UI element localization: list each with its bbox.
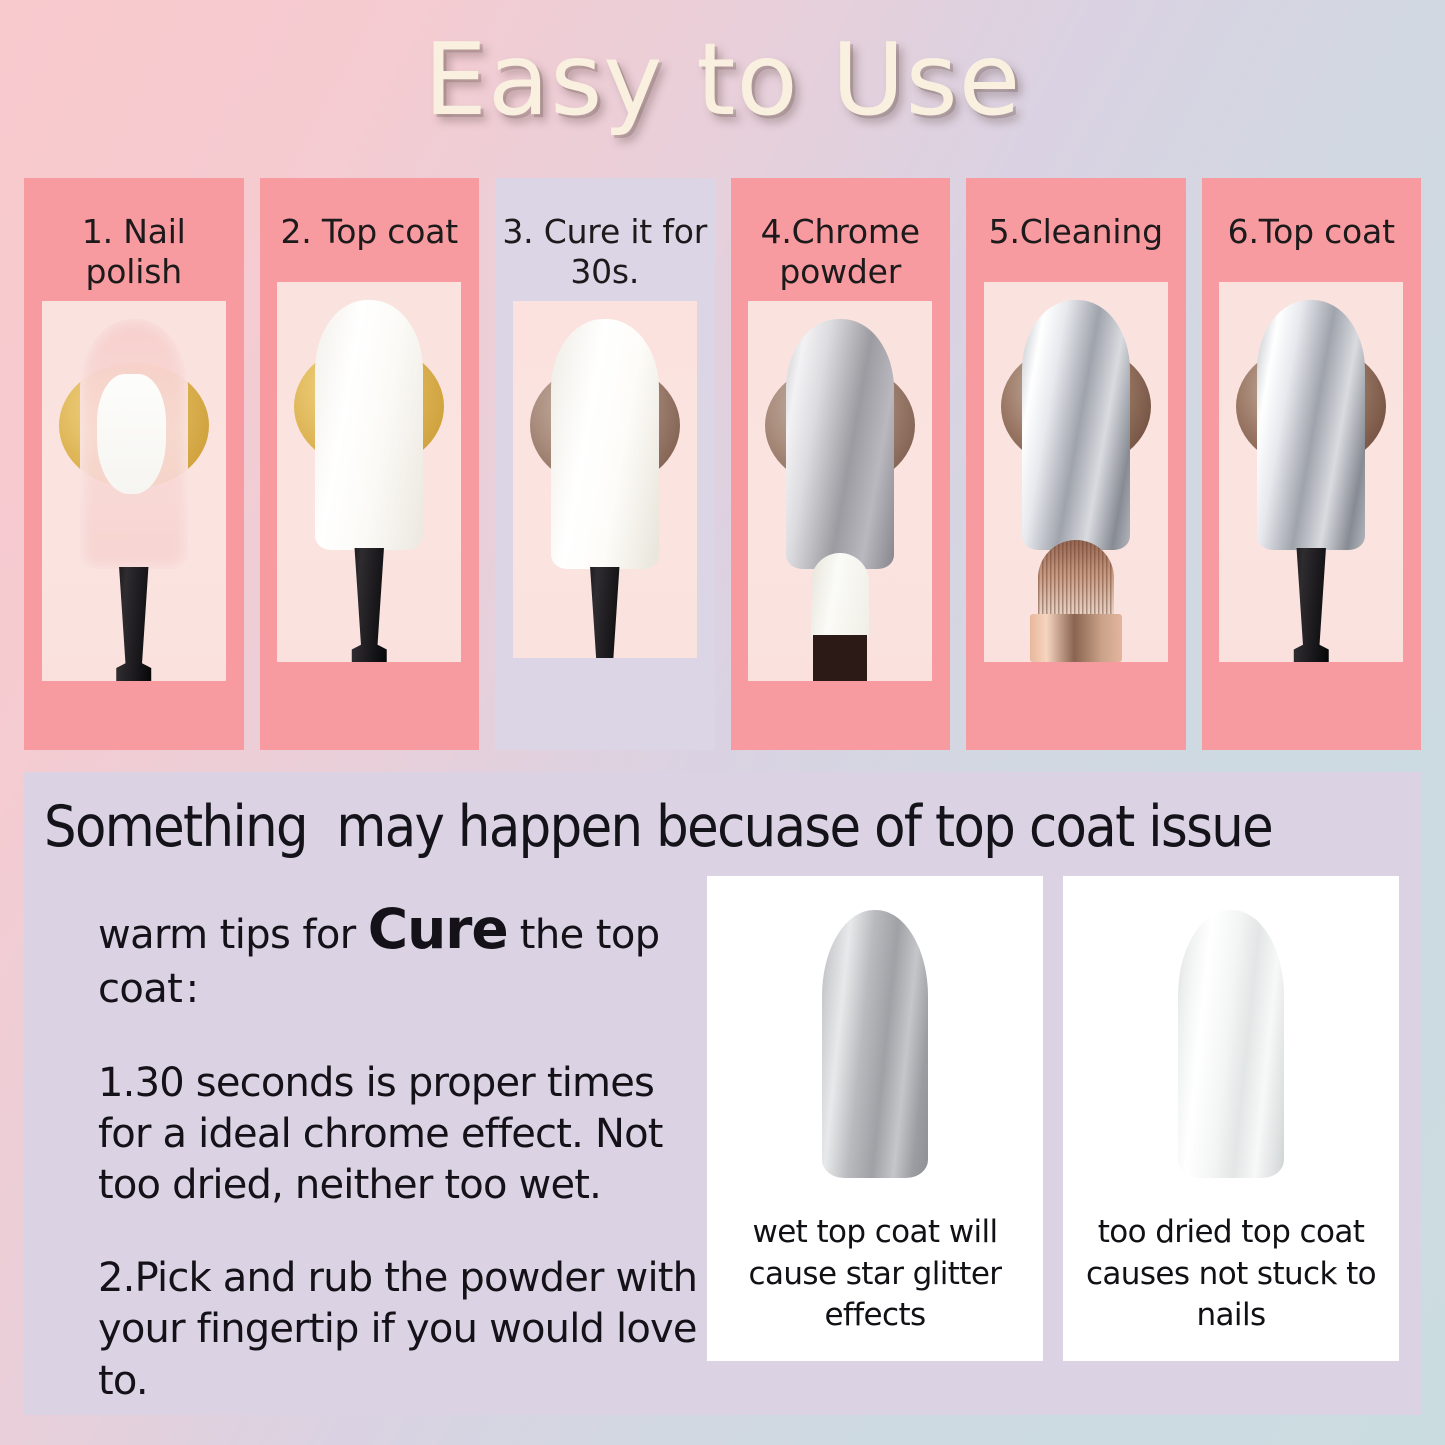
- step-card-2[interactable]: 2. Top coat: [260, 178, 480, 750]
- polish-brush-icon: [111, 567, 157, 681]
- step-card-4[interactable]: 4.Chrome powder: [731, 178, 951, 750]
- nail-chrome-final: [1257, 300, 1365, 550]
- step-title-5: 5.Cleaning: [966, 178, 1186, 274]
- nail-pink-polish: [80, 319, 188, 569]
- comparison-photo-wet: [707, 876, 1043, 1206]
- nail-cured-topcoat: [551, 319, 659, 569]
- step-card-6[interactable]: 6.Top coat: [1202, 178, 1422, 750]
- troubleshooting-panel: Something may happen becuase of top coat…: [24, 772, 1421, 1415]
- nail-chrome-powder: [786, 319, 894, 569]
- step-title-1: 1. Nail polish: [24, 178, 244, 293]
- sponge-tip: [811, 553, 869, 641]
- step-card-3[interactable]: 3. Cure it for 30s.: [495, 178, 715, 750]
- comparison-card-wet[interactable]: wet top coat will cause star glitter eff…: [707, 876, 1043, 1361]
- warm-tips-lead: warm tips for Cure the top coat :: [98, 894, 718, 1016]
- lead-emphasis-cure: Cure: [368, 897, 508, 961]
- nail-pearl-unstuck: [1178, 910, 1284, 1178]
- panel-heading: Something may happen becuase of top coat…: [44, 798, 1404, 858]
- comparison-photo-dried: [1063, 876, 1399, 1206]
- step-card-1[interactable]: 1. Nail polish: [24, 178, 244, 750]
- comparison-caption-wet: wet top coat will cause star glitter eff…: [707, 1212, 1043, 1337]
- polish-brush-icon: [582, 567, 628, 681]
- warm-tips-column: warm tips for Cure the top coat : 1.30 s…: [98, 894, 718, 1407]
- tip-paragraph-2: 2.Pick and rub the powder with your fing…: [98, 1253, 718, 1407]
- step-photo-2: [277, 282, 461, 662]
- comparison-cards: wet top coat will cause star glitter eff…: [707, 876, 1399, 1361]
- steps-row: 1. Nail polish 2. Top coat 3. Cure it fo…: [24, 178, 1421, 750]
- step-title-2: 2. Top coat: [260, 178, 480, 274]
- nail-white-topcoat: [315, 300, 423, 550]
- comparison-card-dried[interactable]: too dried top coat causes not stuck to n…: [1063, 876, 1399, 1361]
- sponge-applicator-icon: [809, 553, 871, 681]
- step-title-4: 4.Chrome powder: [731, 178, 951, 293]
- step-photo-3: [513, 301, 697, 681]
- cleaning-brush-icon: [1030, 540, 1122, 662]
- comparison-caption-dried: too dried top coat causes not stuck to n…: [1063, 1212, 1399, 1337]
- step-photo-6: [1219, 282, 1403, 662]
- step-title-3: 3. Cure it for 30s.: [495, 178, 715, 293]
- step-photo-5: [984, 282, 1168, 662]
- nail-silver-glitter: [822, 910, 928, 1178]
- step-title-6: 6.Top coat: [1202, 178, 1422, 274]
- step-photo-1: [42, 301, 226, 681]
- polish-brush-icon: [346, 548, 392, 662]
- page-title: Easy to Use: [0, 24, 1445, 136]
- lead-before: warm tips for: [98, 912, 368, 958]
- polish-brush-icon: [1288, 548, 1334, 662]
- step-card-5[interactable]: 5.Cleaning: [966, 178, 1186, 750]
- tip-paragraph-1: 1.30 seconds is proper times for a ideal…: [98, 1058, 718, 1212]
- nail-chrome-cleaned: [1022, 300, 1130, 550]
- brush-bristles: [1038, 540, 1114, 620]
- infographic-page: Easy to Use 1. Nail polish 2. Top coat 3…: [0, 0, 1445, 1445]
- step-photo-4: [748, 301, 932, 681]
- brush-ferrule: [1030, 614, 1122, 662]
- sponge-handle: [813, 635, 867, 681]
